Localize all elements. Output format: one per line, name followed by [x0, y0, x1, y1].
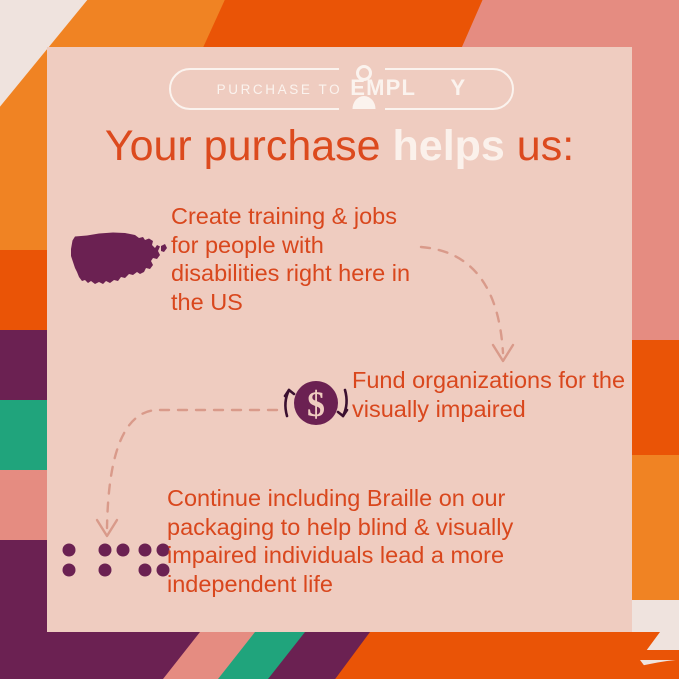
badge-text-row: PURCHASE TO EMPL O Y	[169, 68, 514, 110]
content-card: PURCHASE TO EMPL O Y Your purchase helps…	[47, 47, 632, 632]
braille-dots-icon	[57, 535, 177, 585]
person-figure-o-icon	[351, 64, 377, 114]
headline-part-2: helps	[393, 122, 505, 170]
us-map-icon	[65, 224, 171, 296]
badge-small-text: PURCHASE TO	[217, 82, 343, 97]
poster-canvas: PURCHASE TO EMPL O Y Your purchase helps…	[0, 0, 679, 679]
dashed-curved-arrow-icon-1	[415, 235, 545, 385]
purchase-to-employ-badge: PURCHASE TO EMPL O Y	[169, 68, 514, 110]
dollar-coin-icon: $	[275, 372, 357, 434]
item-text-braille-packaging: Continue including Braille on our packag…	[167, 484, 587, 599]
stripe-group-bottom	[0, 630, 679, 679]
badge-big-text-post: Y	[450, 75, 466, 101]
item-text-fund-organizations: Fund organizations for the visually impa…	[352, 366, 632, 423]
page-title: Your purchase helps us:	[47, 125, 632, 168]
item-text-create-jobs: Create training & jobs for people with d…	[171, 202, 421, 317]
svg-text:$: $	[307, 384, 325, 424]
headline-part-1: Your purchase	[105, 122, 393, 170]
headline-part-3: us:	[505, 122, 574, 170]
